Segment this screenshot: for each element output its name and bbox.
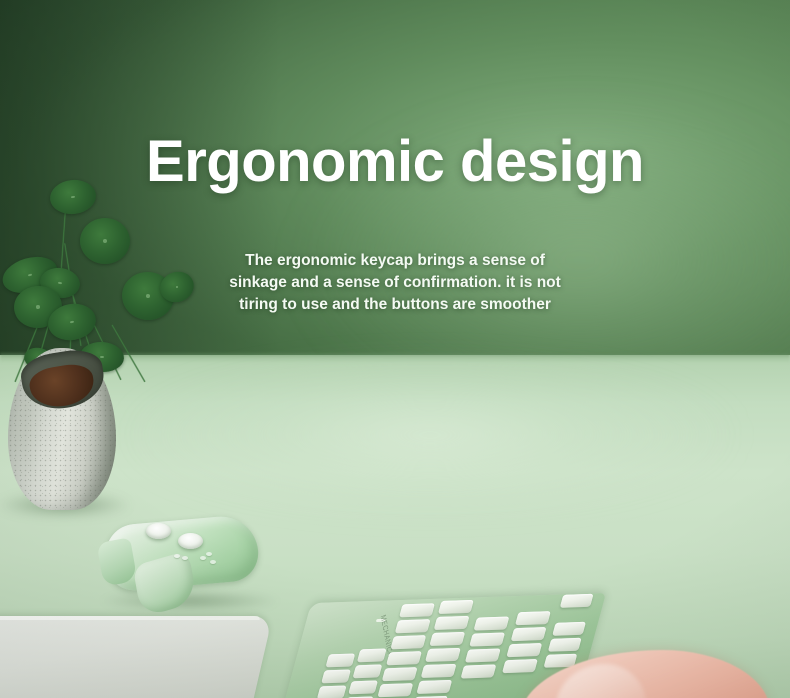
stone-vase [8,348,116,510]
product-banner: MECHANICAL [0,0,790,698]
table-light-sheen [120,360,740,510]
plant-leaf [48,178,97,217]
white-laptop [0,616,273,698]
game-controller [96,506,272,616]
controller-left-stick [146,523,171,539]
laptop-top-edge [0,616,260,620]
controller-right-stick [178,533,203,549]
plant-leaf [80,218,130,264]
